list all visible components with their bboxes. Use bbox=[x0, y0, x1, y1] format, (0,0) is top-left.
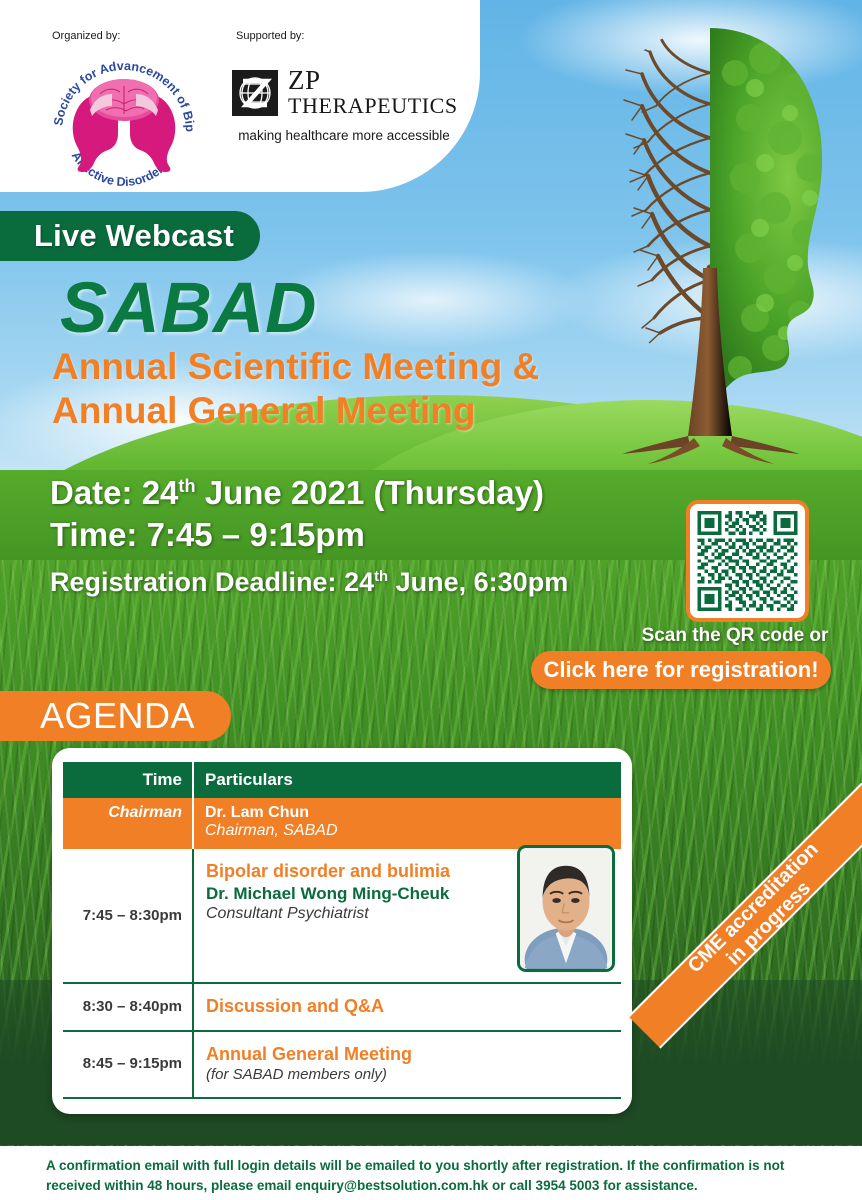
live-webcast-label: Live Webcast bbox=[34, 218, 234, 254]
supported-by-label: Supported by: bbox=[236, 30, 305, 42]
row-note: (for SABAD members only) bbox=[206, 1065, 611, 1085]
live-webcast-badge: Live Webcast bbox=[0, 211, 260, 261]
qr-code-container[interactable] bbox=[686, 500, 809, 622]
footer-note: A confirmation email with full login det… bbox=[46, 1156, 816, 1195]
event-subtitle: Annual Scientific Meeting & Annual Gener… bbox=[52, 345, 612, 432]
zp-globe-icon bbox=[232, 70, 278, 116]
row-topic: Discussion and Q&A bbox=[206, 995, 611, 1018]
table-row: 7:45 – 8:30pm Bipolar disorder and bulim… bbox=[63, 849, 621, 983]
deadline-ordinal: th bbox=[374, 569, 388, 585]
zp-name-line1: ZP bbox=[288, 66, 458, 94]
event-details: Date: 24th June 2021 (Thursday) Time: 7:… bbox=[50, 472, 590, 599]
sabad-logo: Society for Advancement of Bipolar Affec… bbox=[44, 46, 204, 188]
chairman-particulars: Dr. Lam Chun Chairman, SABAD bbox=[193, 798, 621, 849]
table-row: 8:30 – 8:40pm Discussion and Q&A bbox=[63, 983, 621, 1031]
row-particulars: Discussion and Q&A bbox=[193, 983, 621, 1031]
zp-tagline: making healthcare more accessible bbox=[232, 128, 456, 143]
agenda-badge: AGENDA bbox=[0, 691, 231, 741]
agenda-table: Time Particulars Chairman Dr. Lam Chun C… bbox=[63, 762, 621, 1099]
registration-deadline-line: Registration Deadline: 24th June, 6:30pm bbox=[50, 565, 590, 599]
zp-wordmark: ZP THERAPEUTICS bbox=[288, 66, 458, 117]
row-topic: Annual General Meeting bbox=[206, 1043, 611, 1066]
zp-name-line2: THERAPEUTICS bbox=[288, 94, 458, 117]
deadline-label: Registration Deadline: bbox=[50, 567, 337, 597]
subtitle-line-1: Annual Scientific Meeting & bbox=[52, 345, 612, 389]
organized-by-label: Organized by: bbox=[52, 30, 120, 42]
column-header-time: Time bbox=[63, 762, 193, 798]
agenda-chairman-row: Chairman Dr. Lam Chun Chairman, SABAD bbox=[63, 798, 621, 849]
row-particulars: Annual General Meeting (for SABAD member… bbox=[193, 1031, 621, 1098]
row-time: 7:45 – 8:30pm bbox=[63, 849, 193, 983]
date-rest: June 2021 (Thursday) bbox=[205, 474, 544, 511]
deadline-rest: June, 6:30pm bbox=[396, 567, 569, 597]
speaker-photo bbox=[517, 845, 615, 972]
deadline-day: 24 bbox=[344, 567, 374, 597]
header-white-panel: Organized by: Supported by: Society for … bbox=[0, 0, 480, 192]
event-time-line: Time: 7:45 – 9:15pm bbox=[50, 514, 590, 556]
date-day: 24 bbox=[142, 474, 179, 511]
subtitle-line-2: Annual General Meeting bbox=[52, 389, 612, 433]
chairman-time-label: Chairman bbox=[63, 798, 193, 849]
row-particulars: Bipolar disorder and bulimia Dr. Michael… bbox=[193, 849, 621, 983]
scan-qr-text: Scan the QR code or bbox=[620, 625, 850, 647]
footer-bar: A confirmation email with full login det… bbox=[0, 1146, 862, 1200]
chairman-name: Dr. Lam Chun bbox=[205, 804, 611, 822]
table-row: 8:45 – 9:15pm Annual General Meeting (fo… bbox=[63, 1031, 621, 1098]
click-here-registration-button[interactable]: Click here for registration! bbox=[531, 651, 831, 689]
agenda-card: Time Particulars Chairman Dr. Lam Chun C… bbox=[52, 748, 632, 1114]
poster-canvas: Organized by: Supported by: Society for … bbox=[0, 0, 862, 1200]
date-label: Date: bbox=[50, 474, 133, 511]
agenda-header-row: Time Particulars bbox=[63, 762, 621, 798]
column-header-particulars: Particulars bbox=[193, 762, 621, 798]
zp-therapeutics-logo: ZP THERAPEUTICS making healthcare more a… bbox=[232, 66, 456, 156]
agenda-label: AGENDA bbox=[40, 695, 195, 737]
qr-code[interactable] bbox=[697, 511, 798, 611]
chairman-role: Chairman, SABAD bbox=[205, 822, 611, 840]
event-acronym-title: SABAD bbox=[60, 268, 317, 349]
row-time: 8:45 – 9:15pm bbox=[63, 1031, 193, 1098]
event-date-line: Date: 24th June 2021 (Thursday) bbox=[50, 472, 590, 514]
date-ordinal: th bbox=[178, 476, 195, 496]
row-time: 8:30 – 8:40pm bbox=[63, 983, 193, 1031]
